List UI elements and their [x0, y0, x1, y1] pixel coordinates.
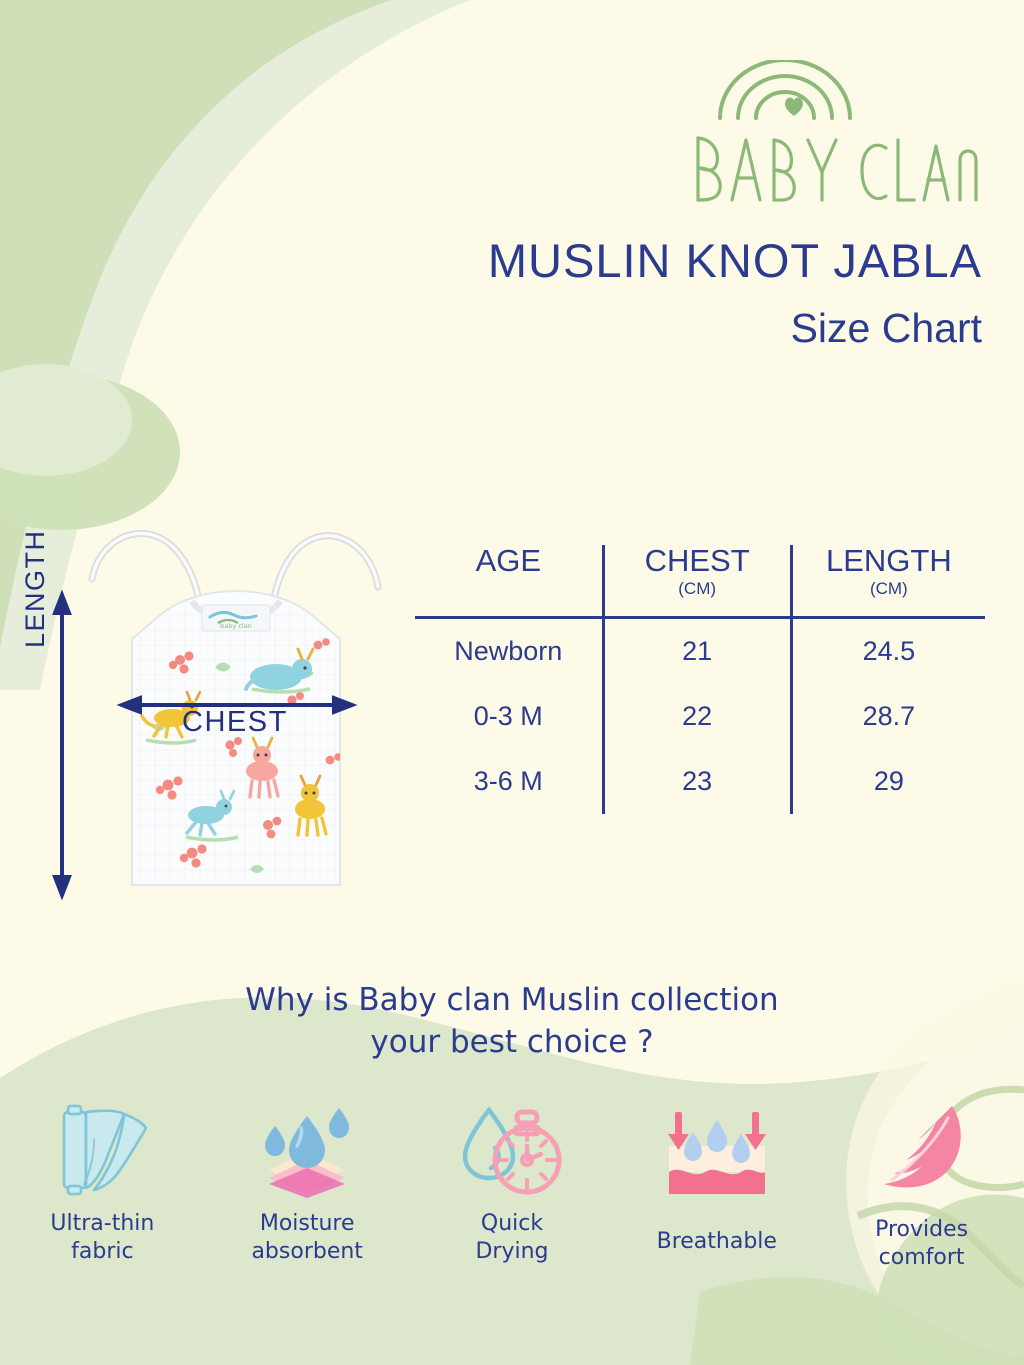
- droplet-timer-icon: [457, 1096, 567, 1204]
- cell-chest: 23: [603, 749, 791, 814]
- page-title-block: MUSLIN KNOT JABLA Size Chart: [282, 236, 982, 350]
- water-layers-icon: [253, 1096, 361, 1204]
- feature-label: Breathable: [657, 1228, 777, 1256]
- length-measure-label: LENGTH: [20, 529, 51, 648]
- neck-label: baby clan: [202, 605, 270, 631]
- breathable-skin-icon: [659, 1096, 775, 1204]
- size-chart-table: AGE CHEST (CM) LENGTH (CM) Newborn: [415, 545, 985, 814]
- why-section-heading: Why is Baby clan Muslin collection your …: [0, 980, 1024, 1064]
- size-chart-table-wrapper: AGE CHEST (CM) LENGTH (CM) Newborn: [415, 545, 985, 835]
- feature-provides-comfort: Provides comfort: [819, 1096, 1024, 1336]
- cell-age: Newborn: [415, 617, 603, 684]
- cell-age: 3-6 M: [415, 749, 603, 814]
- heart-icon: [785, 97, 803, 116]
- table-row: 0-3 M 22 28.7: [415, 684, 985, 749]
- cell-chest: 21: [603, 617, 791, 684]
- page-title: MUSLIN KNOT JABLA: [282, 236, 982, 285]
- feature-quick-drying: Quick Drying: [410, 1096, 615, 1336]
- feature-breathable: Breathable: [614, 1096, 819, 1336]
- fabric-roll-icon: [50, 1096, 154, 1204]
- why-line-1: Why is Baby clan Muslin collection: [0, 980, 1024, 1022]
- page-subtitle: Size Chart: [282, 307, 982, 350]
- feather-icon: [868, 1096, 976, 1204]
- table-header-length: LENGTH (CM): [791, 545, 985, 617]
- feature-label: Quick Drying: [475, 1210, 548, 1266]
- feature-label: Provides comfort: [875, 1216, 968, 1272]
- table-row: Newborn 21 24.5: [415, 617, 985, 684]
- svg-text:baby clan: baby clan: [220, 622, 252, 630]
- cell-length: 28.7: [791, 684, 985, 749]
- chest-measure-label: CHEST: [182, 706, 288, 739]
- table-header-chest: CHEST (CM): [603, 545, 791, 617]
- why-line-2: your best choice ?: [0, 1022, 1024, 1064]
- feature-ultra-thin-fabric: Ultra-thin fabric: [0, 1096, 205, 1336]
- cell-chest: 22: [603, 684, 791, 749]
- brand-logo: [690, 60, 990, 220]
- feature-label: Moisture absorbent: [251, 1210, 362, 1266]
- length-arrow: [55, 595, 69, 895]
- feature-label: Ultra-thin fabric: [50, 1210, 154, 1266]
- table-header-age: AGE: [415, 545, 603, 617]
- cell-age: 0-3 M: [415, 684, 603, 749]
- table-header-row: AGE CHEST (CM) LENGTH (CM): [415, 545, 985, 617]
- table-row: 3-6 M 23 29: [415, 749, 985, 814]
- cell-length: 24.5: [791, 617, 985, 684]
- features-row: Ultra-thin fabric Moist: [0, 1096, 1024, 1336]
- feature-moisture-absorbent: Moisture absorbent: [205, 1096, 410, 1336]
- size-chart-page: MUSLIN KNOT JABLA Size Chart: [0, 0, 1024, 1365]
- cell-length: 29: [791, 749, 985, 814]
